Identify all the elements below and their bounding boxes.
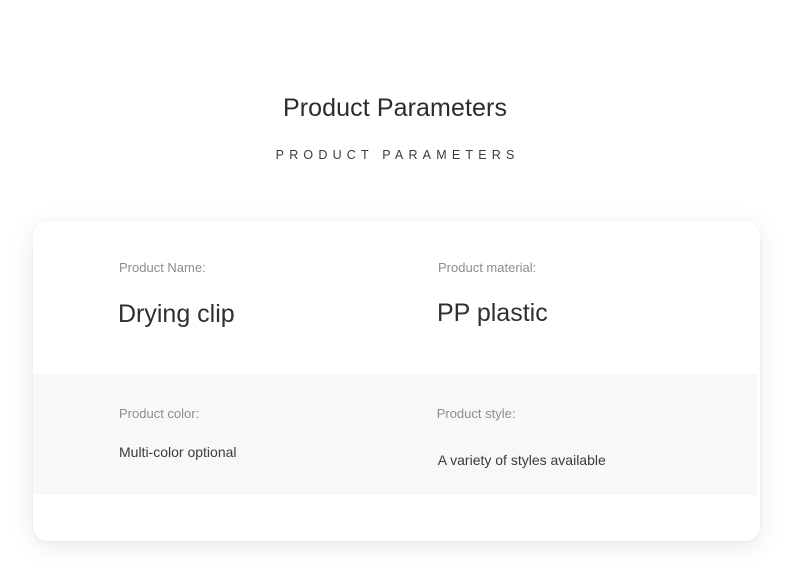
parameter-cell-product-material: Product material: PP plastic (352, 221, 760, 374)
parameter-label: Product style: (437, 405, 516, 423)
page-heading: Product Parameters PRODUCT PARAMETERS (0, 92, 790, 164)
parameter-cell-product-color: Product color: Multi-color optional (33, 374, 351, 495)
page-subtitle: PRODUCT PARAMETERS (0, 146, 790, 164)
parameter-value: Drying clip (118, 299, 235, 329)
parameter-label: Product Name: (119, 259, 206, 277)
parameter-label: Product material: (438, 259, 536, 277)
page-title: Product Parameters (0, 92, 790, 124)
product-parameters-card: Product Name: Drying clip Product materi… (33, 221, 760, 541)
product-parameters-page: Product Parameters PRODUCT PARAMETERS Pr… (0, 0, 790, 588)
parameter-value: Multi-color optional (119, 444, 237, 460)
parameter-row: Product Name: Drying clip Product materi… (33, 221, 760, 374)
parameter-value: PP plastic (437, 298, 548, 328)
parameter-cell-product-style: Product style: A variety of styles avail… (351, 374, 757, 495)
parameter-value: A variety of styles available (438, 452, 606, 468)
card-footer-strip (33, 495, 760, 541)
parameter-row: Product color: Multi-color optional Prod… (33, 374, 757, 495)
parameter-cell-product-name: Product Name: Drying clip (33, 221, 352, 374)
parameter-label: Product color: (119, 405, 199, 423)
